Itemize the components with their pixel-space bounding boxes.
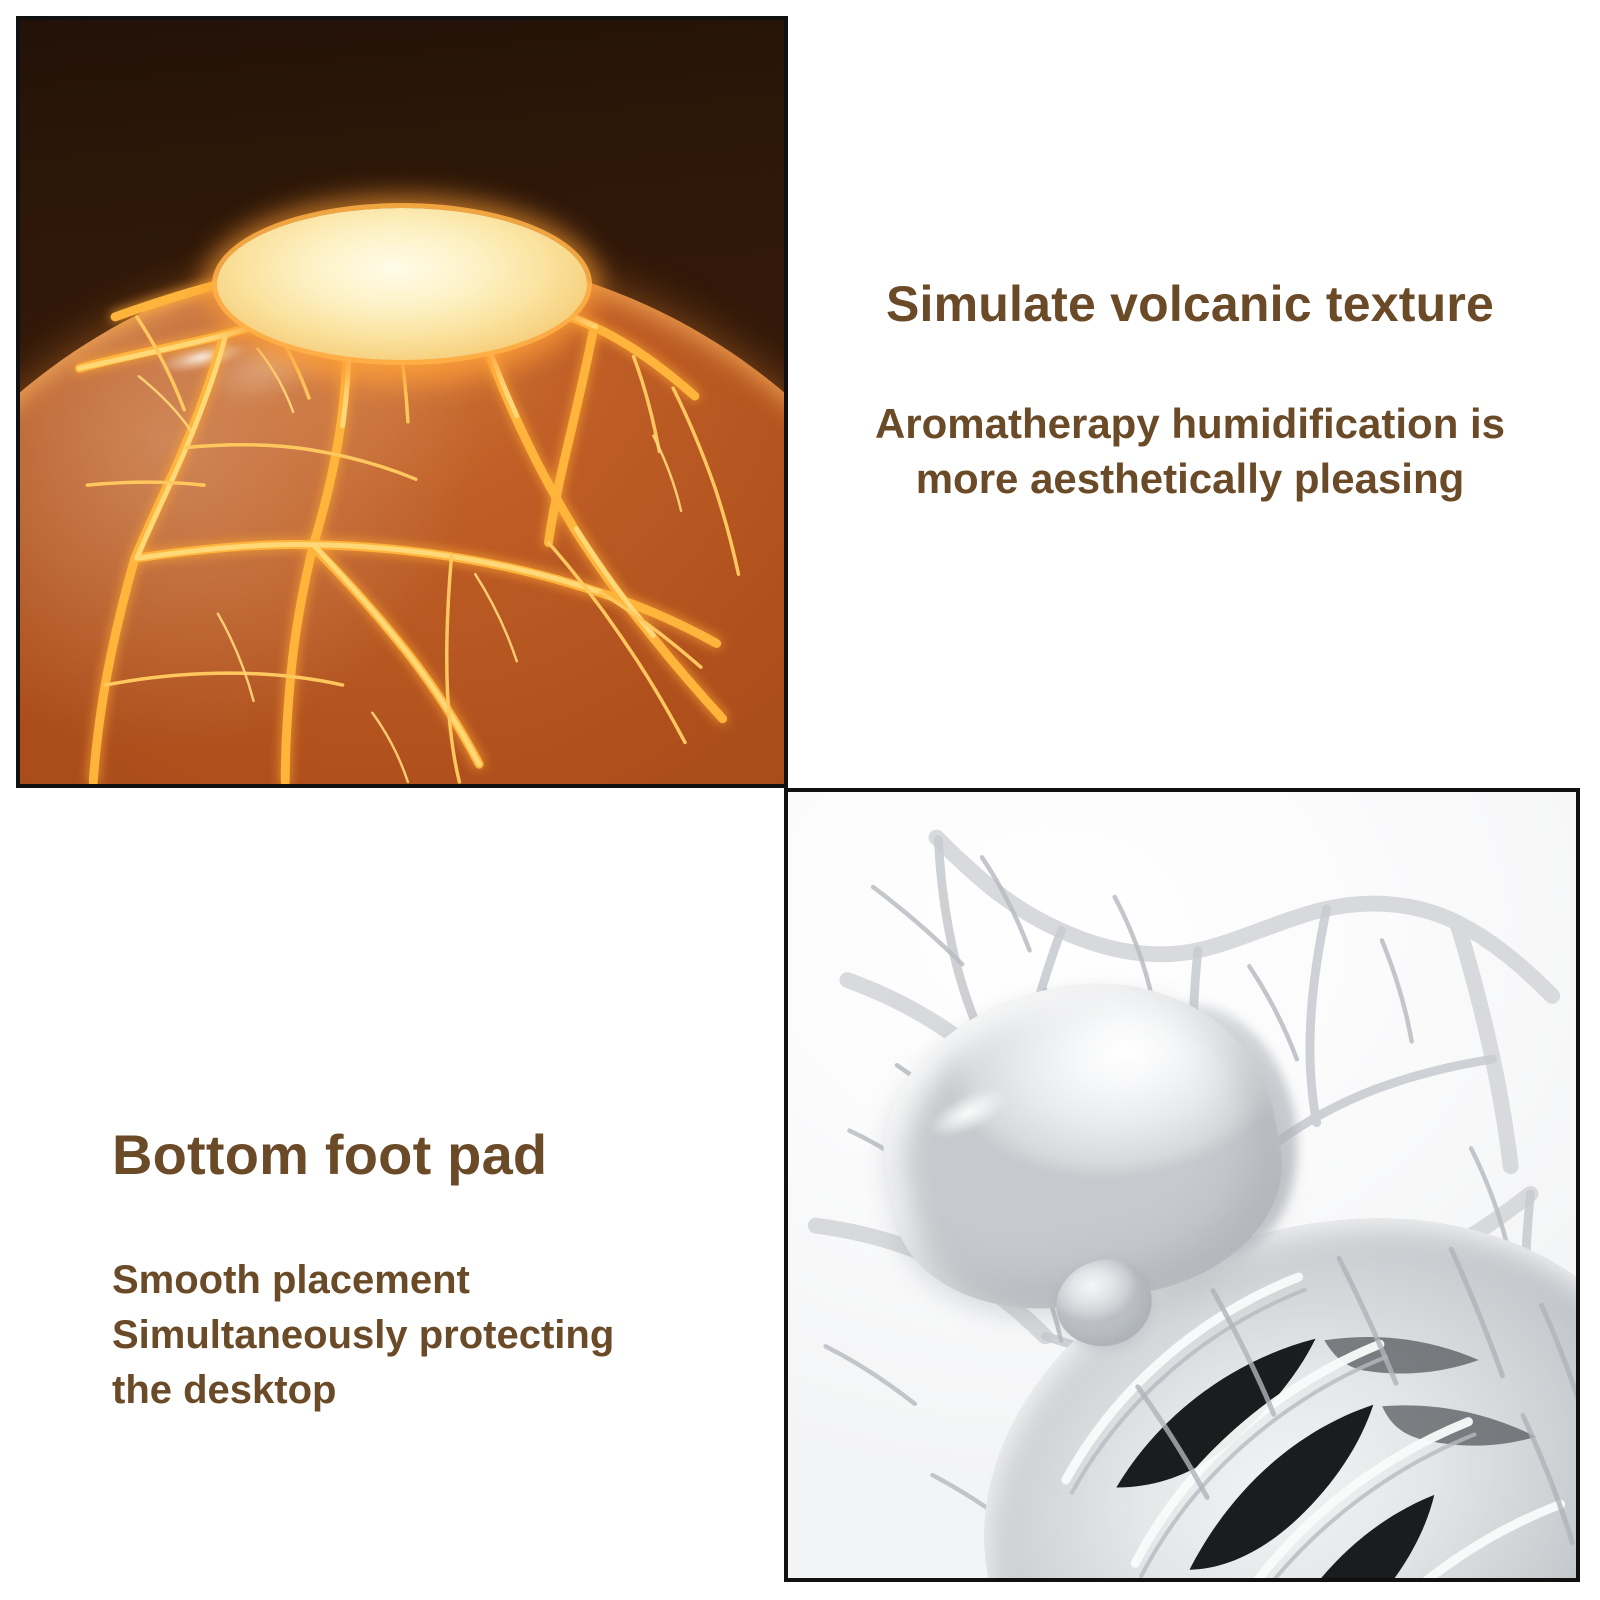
foot-pad-text-block: Bottom foot pad Smooth placement Simulta… [112, 1124, 732, 1418]
foot-pad-subcopy-line-2: Simultaneously protecting [112, 1308, 732, 1363]
volcanic-texture-subcopy: Aromatherapy humidification is more aest… [800, 396, 1580, 507]
foot-pad-headline: Bottom foot pad [112, 1124, 732, 1187]
foot-pad-photo [784, 788, 1580, 1582]
volcanic-texture-subcopy-line-2: more aesthetically pleasing [800, 451, 1580, 506]
foot-pad-subcopy-line-3: the desktop [112, 1363, 732, 1418]
volcanic-texture-headline: Simulate volcanic texture [800, 276, 1580, 334]
marble-base-surface [788, 792, 1576, 1578]
volcanic-texture-text-block: Simulate volcanic texture Aromatherapy h… [800, 276, 1580, 506]
volcanic-texture-photo [16, 16, 788, 788]
volcanic-texture-subcopy-line-1: Aromatherapy humidification is [800, 396, 1580, 451]
marketing-collage-page: Simulate volcanic texture Aromatherapy h… [0, 0, 1600, 1600]
lamp-aperture [217, 208, 587, 360]
foot-pad-subcopy-line-1: Smooth placement [112, 1253, 732, 1308]
foot-pad-subcopy: Smooth placement Simultaneously protecti… [112, 1253, 732, 1419]
volcano-night-background [20, 20, 784, 784]
